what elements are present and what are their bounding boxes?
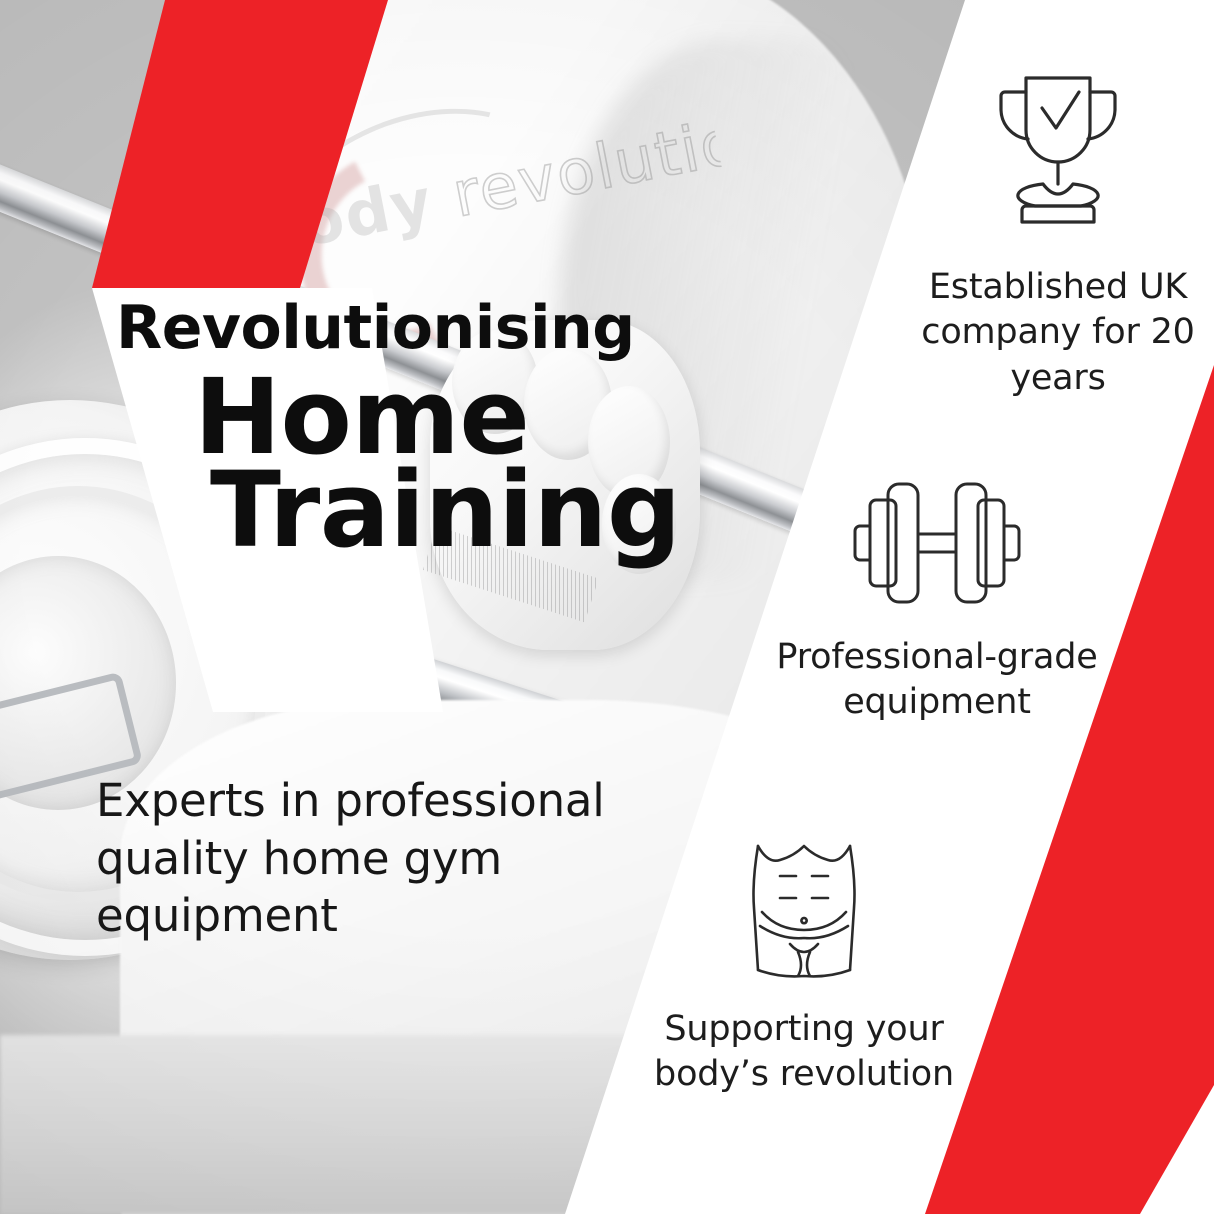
torso-abs-icon [636,840,972,993]
promotional-banner: body revolution Revolutionising Home Tra… [0,0,1214,1214]
feature-label: Supporting your body’s revolution [636,1007,972,1098]
trophy-check-icon [918,68,1198,251]
feature-item-established: Established UK company for 20 years [918,68,1198,401]
feature-label: Professional-grade equipment [764,635,1110,726]
feature-label: Established UK company for 20 years [918,265,1198,402]
feature-item-equipment: Professional-grade equipment [764,478,1110,726]
dumbbell-icon [764,478,1110,621]
feature-item-body: Supporting your body’s revolution [636,840,972,1098]
feature-list: Established UK company for 20 years Prof… [0,0,1214,1214]
